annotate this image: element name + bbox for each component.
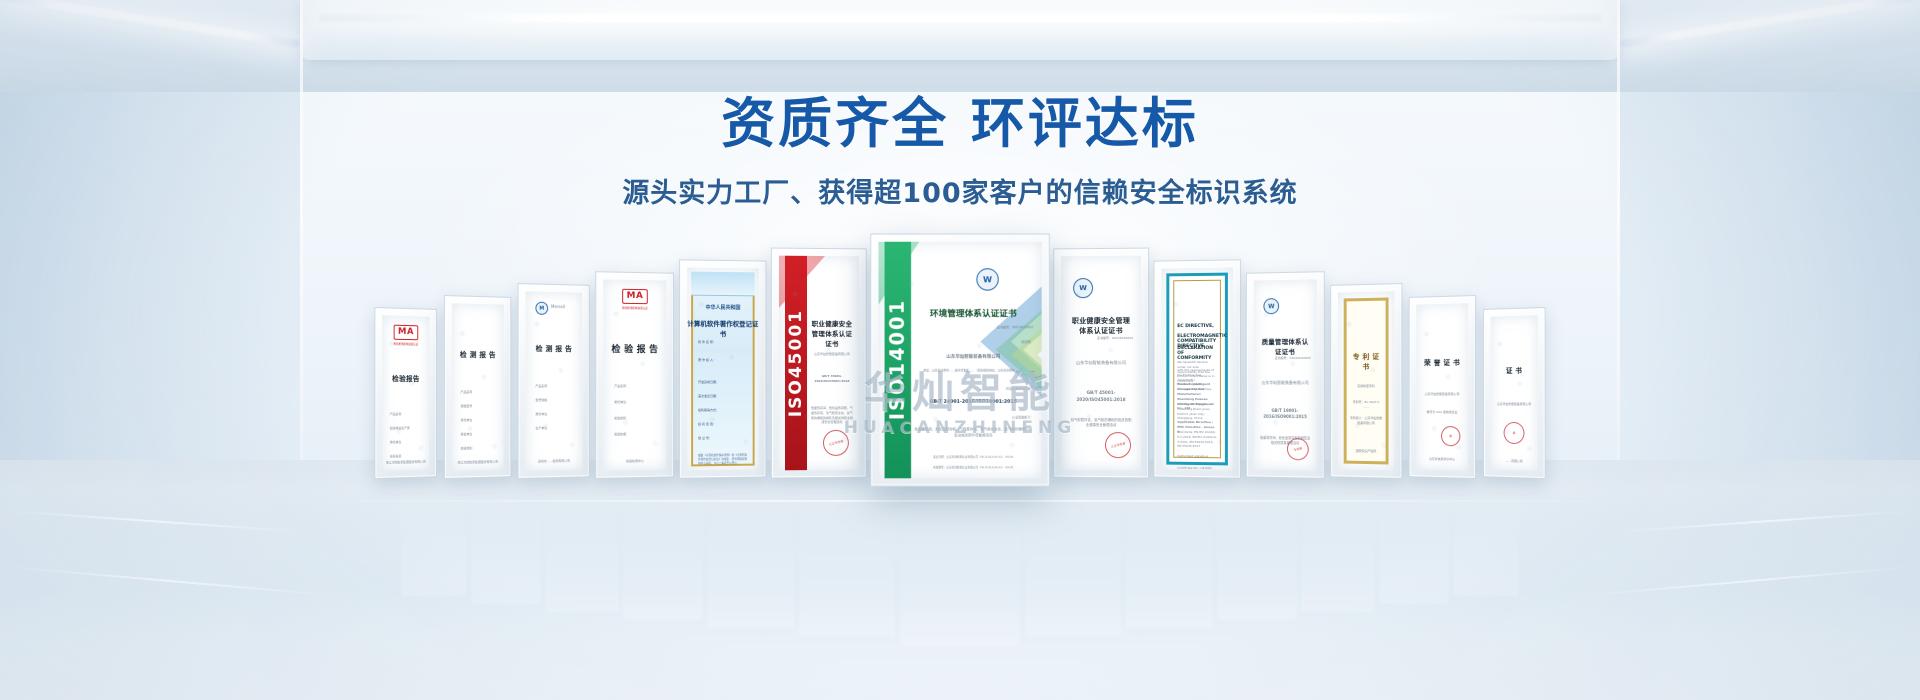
iso-ribbon-label: ISO14001 [887, 299, 909, 420]
certificate-field: 首次发表日期： [687, 394, 758, 399]
ma-mark-icon: MA [622, 289, 648, 304]
certificate-number: 证书编号：04Q24020695 [1260, 356, 1311, 361]
certificate-field: 规格型号 [452, 404, 504, 409]
ceiling-recess [300, 0, 1620, 60]
certificate-standard: GB/T 45001-2020/ISO45001:2018 [811, 374, 853, 384]
certificate-scope: 危废暂存间、危化品暂存柜、气瓶暂存间、氧气柜安全合、氨气柜的爆柜的销售及相关的环… [913, 427, 1033, 439]
cove-light-center [318, 14, 1602, 22]
certificate-footer: 浙江方圆检测集团股份有限公司 [382, 460, 429, 466]
certification-banner: 资质齐全 环评达标 源头实力工厂、获得超100家客户的信赖安全标识系统 MA 检… [0, 0, 1920, 700]
certificate-heading: 专 利 证 书 [1350, 352, 1383, 372]
certificate-valid-until: 有效期至：山东易沐检测认证有限公司（HC-Z-ZL3-01-A1）-H2-05 [913, 466, 1033, 470]
certificate-field: 委托单位 [603, 400, 666, 405]
certificate-field: 产品名称 [526, 384, 583, 389]
floor-edge-line [300, 500, 1620, 502]
certificate-field: 权利取得方式： [687, 408, 758, 413]
floor-gloss [0, 460, 1920, 700]
certificate-field: 任务来源 [382, 453, 429, 459]
certificate-sheet: 专 利 证 书 实用新型专利 专利号：ZL 2023 2 …… 专利权人：山东华… [1338, 291, 1395, 470]
certificate-frame[interactable]: MA 检验检测机构资质认定 检验报告 产品名称 检验样品生产者 委托单位 任务来… [374, 307, 436, 479]
certificate-standard: GB/T 45001-2020/ISO45001:2018 [1069, 390, 1133, 404]
certificate-issuer: 中华人民共和国 [687, 304, 758, 313]
certificate-heading: 职业健康安全管理体系认证证书 [1069, 316, 1133, 336]
official-stamp-icon: 章 [1439, 424, 1462, 448]
ce-body-line: Standards: EN IEC 61000-6-1:2019, EN IEC… [1177, 430, 1217, 450]
certificate-frame[interactable]: 检 测 报 告 产品名称 规格型号 委托单位 受检单位 检验类别 浙江方圆检测集… [444, 295, 511, 479]
certificate-sheet: 荣 誉 证 书 山东华灿智能装备有限公司 被评为 AAA 级信用企业 章 山东省… [1416, 303, 1468, 470]
certificate-field: 委托单位 [382, 440, 429, 446]
certificate-sheet: 中华人民共和国 计算机软件著作权登记证书 软 件 名 称： 著 作 权 人： 开… [687, 268, 758, 471]
certificate-field: 检验类别 [603, 416, 666, 421]
certificate-field: 被评为 AAA 级信用企业 [1422, 410, 1462, 415]
ornate-header-band [691, 272, 755, 297]
certificate-sheet: 证 书 山东华灿智能装备有限公司 章 ……有限公司 [1491, 315, 1538, 470]
certificate-wall: MA 检验检测机构资质认定 检验报告 产品名称 检验样品生产者 委托单位 任务来… [310, 228, 1610, 478]
certificate-footer: 检验检测中心 [603, 459, 666, 465]
certificate-scope: 危废暂存间、危化品暂存柜、气瓶暂存间、氧气柜安全台、氨气柜的爆柜的销售及相关的职… [811, 406, 853, 425]
iso-ribbon-label: ISO45001 [786, 309, 806, 417]
certificate-heading: 证 书 [1496, 366, 1532, 376]
certificate-sheet: MA 检验检测机构资质认定 检 验 报 告 产品名称 委托单位 检验类别 检验依… [603, 279, 666, 470]
certificate-note: 根据《计算机软件保护条例》和《计算机软件著作权登记办法》的规定，经中国版权保护中… [698, 454, 748, 467]
certificate-issue-date: 发证日期：山东易沐检测认证有限公司（HC-Z-ZL3-01-A1）-H2-05 [913, 456, 1033, 460]
certificate-heading: 检 测 报 告 [526, 344, 583, 354]
certificate-sheet: ISO14001 W 环境管理体系认证证书 证书编号：04E24020695 兹… [878, 242, 1041, 479]
certificate-standard-label: 环境管理体系标准： [913, 387, 1033, 392]
certification-body-seal-icon: W [1263, 298, 1279, 314]
certificate-standard: GB/T 19001-2016/ISO9001:2015 [1260, 408, 1311, 421]
certificate-sheet: EC DIRECTIVE, ELECTROMAGNETIC COMPATIBIL… [1161, 268, 1232, 471]
certificate-frame[interactable]: EC DIRECTIVE, ELECTROMAGNETIC COMPATIBIL… [1154, 259, 1241, 478]
certificate-sheet: M Mersell 检 测 报 告 产品名称 型号规格 委托单位 生产单位 深圳… [526, 291, 583, 470]
page-subtitle: 源头实力工厂、获得超100家客户的信赖安全标识系统 [0, 171, 1920, 210]
certificate-heading: 职业健康安全管理体系认证证书 [811, 318, 853, 348]
ce-signature-label: Authorised signature [1177, 454, 1217, 459]
ce-heading-line: EC DIRECTIVE, [1177, 324, 1217, 329]
ma-mark-caption: 检验检测机构资质认定 [394, 342, 419, 346]
certificate-field: 检验样品生产者 [382, 426, 429, 431]
certificate-field: 产品名称 [603, 384, 666, 389]
official-stamp-icon: 认证专用章 [820, 427, 851, 459]
certificate-frame[interactable]: 证 书 山东华灿智能装备有限公司 章 ……有限公司 [1483, 307, 1545, 479]
certificate-company: 山东华灿智能装备有限公司 [811, 352, 853, 357]
certificate-sheet: ISO45001 职业健康安全管理体系认证证书 山东华灿智能装备有限公司 GB/… [779, 256, 859, 471]
certificate-frame[interactable]: 荣 誉 证 书 山东华灿智能装备有限公司 被评为 AAA 级信用企业 章 山东省… [1409, 295, 1476, 479]
official-stamp-icon: 章 [1501, 420, 1526, 446]
certificate-frame[interactable]: W 质量管理体系认证证书 证书编号：04Q24020695 山东华灿智能装备有限… [1246, 271, 1325, 479]
certificate-field: 生产单位 [526, 426, 583, 431]
certificate-footer: 山东省信用评价中心 [1422, 457, 1462, 463]
certificate-field: 产品名称 [382, 412, 429, 417]
iso-ribbon: ISO45001 [785, 256, 807, 471]
certificate-field: 山东华灿智能装备有限公司 [1422, 392, 1462, 397]
certificate-field: 实用新型专利 [1350, 384, 1383, 389]
certificate-address: 地址：山东省济南市……经济开发区……（实际经营地址：山东省济南市……） [913, 368, 1033, 373]
certificate-frame[interactable]: W 职业健康安全管理体系认证证书 证书编号：04C24020695 山东华灿智能… [1053, 248, 1149, 479]
certificate-field: 专利号：ZL 2023 2 …… [1350, 400, 1383, 410]
certificate-frame[interactable]: ISO45001 职业健康安全管理体系认证证书 山东华灿智能装备有限公司 GB/… [771, 248, 867, 479]
certificate-frame-hero[interactable]: ISO14001 W 环境管理体系认证证书 证书编号：04E24020695 兹… [870, 234, 1050, 487]
certificate-heading: 环境管理体系认证证书 [913, 307, 1033, 319]
certificate-sheet: MA 检验检测机构资质认定 检验报告 产品名称 检验样品生产者 委托单位 任务来… [382, 315, 429, 470]
certificate-footer: ……有限公司 [1496, 459, 1532, 465]
ma-mark-caption: 检验检测机构资质认定 [622, 306, 648, 310]
certificate-field: 检验依据 [603, 432, 666, 438]
certificate-field: 登 记 号： [687, 436, 758, 441]
certificate-field: 权 利 范 围： [687, 422, 758, 427]
issuer-name: Mersell [526, 303, 583, 310]
certificate-heading: 质量管理体系认证证书 [1260, 336, 1311, 356]
certificate-scope-label: 认证范围如下： [913, 415, 1033, 420]
certificate-heading: 荣 誉 证 书 [1422, 358, 1462, 368]
certificate-heading: 检 验 报 告 [603, 342, 666, 355]
official-stamp-icon: 认证专用章 [1102, 429, 1134, 460]
certificate-frame[interactable]: MA 检验检测机构资质认定 检 验 报 告 产品名称 委托单位 检验类别 检验依… [595, 271, 674, 479]
certificate-scope: 氨气柜暂存合、氨气柜的爆柜的相关的职业健康安全管理活动 [1069, 418, 1133, 429]
headline-block: 资质齐全 环评达标 源头实力工厂、获得超100家客户的信赖安全标识系统 [0, 92, 1920, 210]
page-title: 资质齐全 环评达标 [0, 92, 1920, 157]
certificate-company-label: 兹证明： [913, 340, 1033, 345]
certificate-number: 证书编号：04E24020695 [913, 325, 1033, 330]
certificate-sheet: W 职业健康安全管理体系认证证书 证书编号：04C24020695 山东华灿智能… [1061, 256, 1141, 471]
certificate-footer: 深圳市……检测有限公司 [526, 459, 583, 465]
ce-body-line: Address: Building No. 3 Huashang Road, J… [1177, 402, 1217, 421]
patent-gold-border [1344, 298, 1389, 465]
certificate-sheet: 检 测 报 告 产品名称 规格型号 委托单位 受检单位 检验类别 浙江方圆检测集… [452, 303, 504, 470]
ce-body-line: Product: Intelligent Storage Cabinet [1177, 382, 1217, 392]
certificate-heading: 检 测 报 告 [452, 350, 504, 361]
certificate-company: 山东华灿智能装备有限公司 [913, 354, 1033, 361]
certificate-field: 检验类别 [452, 446, 504, 452]
certificate-standard: GB/T 24001-2016/ISO14001:2015 [913, 399, 1033, 406]
certification-body-seal-icon: W [1073, 278, 1093, 298]
ce-certificate-number: Certificate No.: CE-EMC-2024-0042 [1177, 466, 1217, 471]
certificate-field: 山东华灿智能装备有限公司 [1496, 402, 1532, 407]
wall-seam-right [1617, 0, 1620, 520]
certificate-field: 开发完成日期： [687, 380, 758, 385]
iso-ribbon: ISO14001 [885, 242, 912, 479]
certificate-field: 型号规格 [526, 398, 583, 403]
certification-body-seal-icon: W [976, 268, 998, 290]
ma-mark-icon: MA [394, 325, 419, 341]
certificate-sheet: W 质量管理体系认证证书 证书编号：04Q24020695 山东华灿智能装备有限… [1254, 279, 1317, 470]
certificate-frame[interactable]: M Mersell 检 测 报 告 产品名称 型号规格 委托单位 生产单位 深圳… [518, 283, 590, 479]
certificate-footer: 浙江方圆检测集团股份有限公司 [452, 460, 504, 466]
wall-seam-left [300, 0, 303, 520]
certificate-company: 山东华灿智能装备有限公司 [1260, 380, 1311, 386]
certificate-company: 山东华灿智能装备有限公司 [1069, 360, 1133, 367]
certificate-frame[interactable]: 专 利 证 书 实用新型专利 专利号：ZL 2023 2 …… 专利权人：山东华… [1330, 283, 1402, 479]
certificate-number: 证书编号：04C24020695 [1069, 336, 1133, 341]
certificate-frame[interactable]: 中华人民共和国 计算机软件著作权登记证书 软 件 名 称： 著 作 权 人： 开… [679, 259, 766, 478]
ce-heading-line: DECLARATION OF CONFORMITY [1177, 346, 1217, 361]
certificate-field: 受检单位 [452, 432, 504, 438]
certificate-heading: 计算机软件著作权登记证书 [687, 318, 758, 338]
certificate-field: 委托单位 [452, 418, 504, 423]
certificate-heading: 检验报告 [382, 374, 429, 384]
certificate-footer: 国家知识产权局 [1350, 449, 1383, 454]
certificate-field: 产品名称 [452, 390, 504, 395]
certificate-field: 委托单位 [526, 412, 583, 417]
certificate-field: 著 作 权 人： [687, 358, 758, 363]
certificate-field: 专利权人：山东华灿智能装备有限公司 [1350, 416, 1383, 426]
certificate-field: 软 件 名 称： [687, 340, 758, 345]
